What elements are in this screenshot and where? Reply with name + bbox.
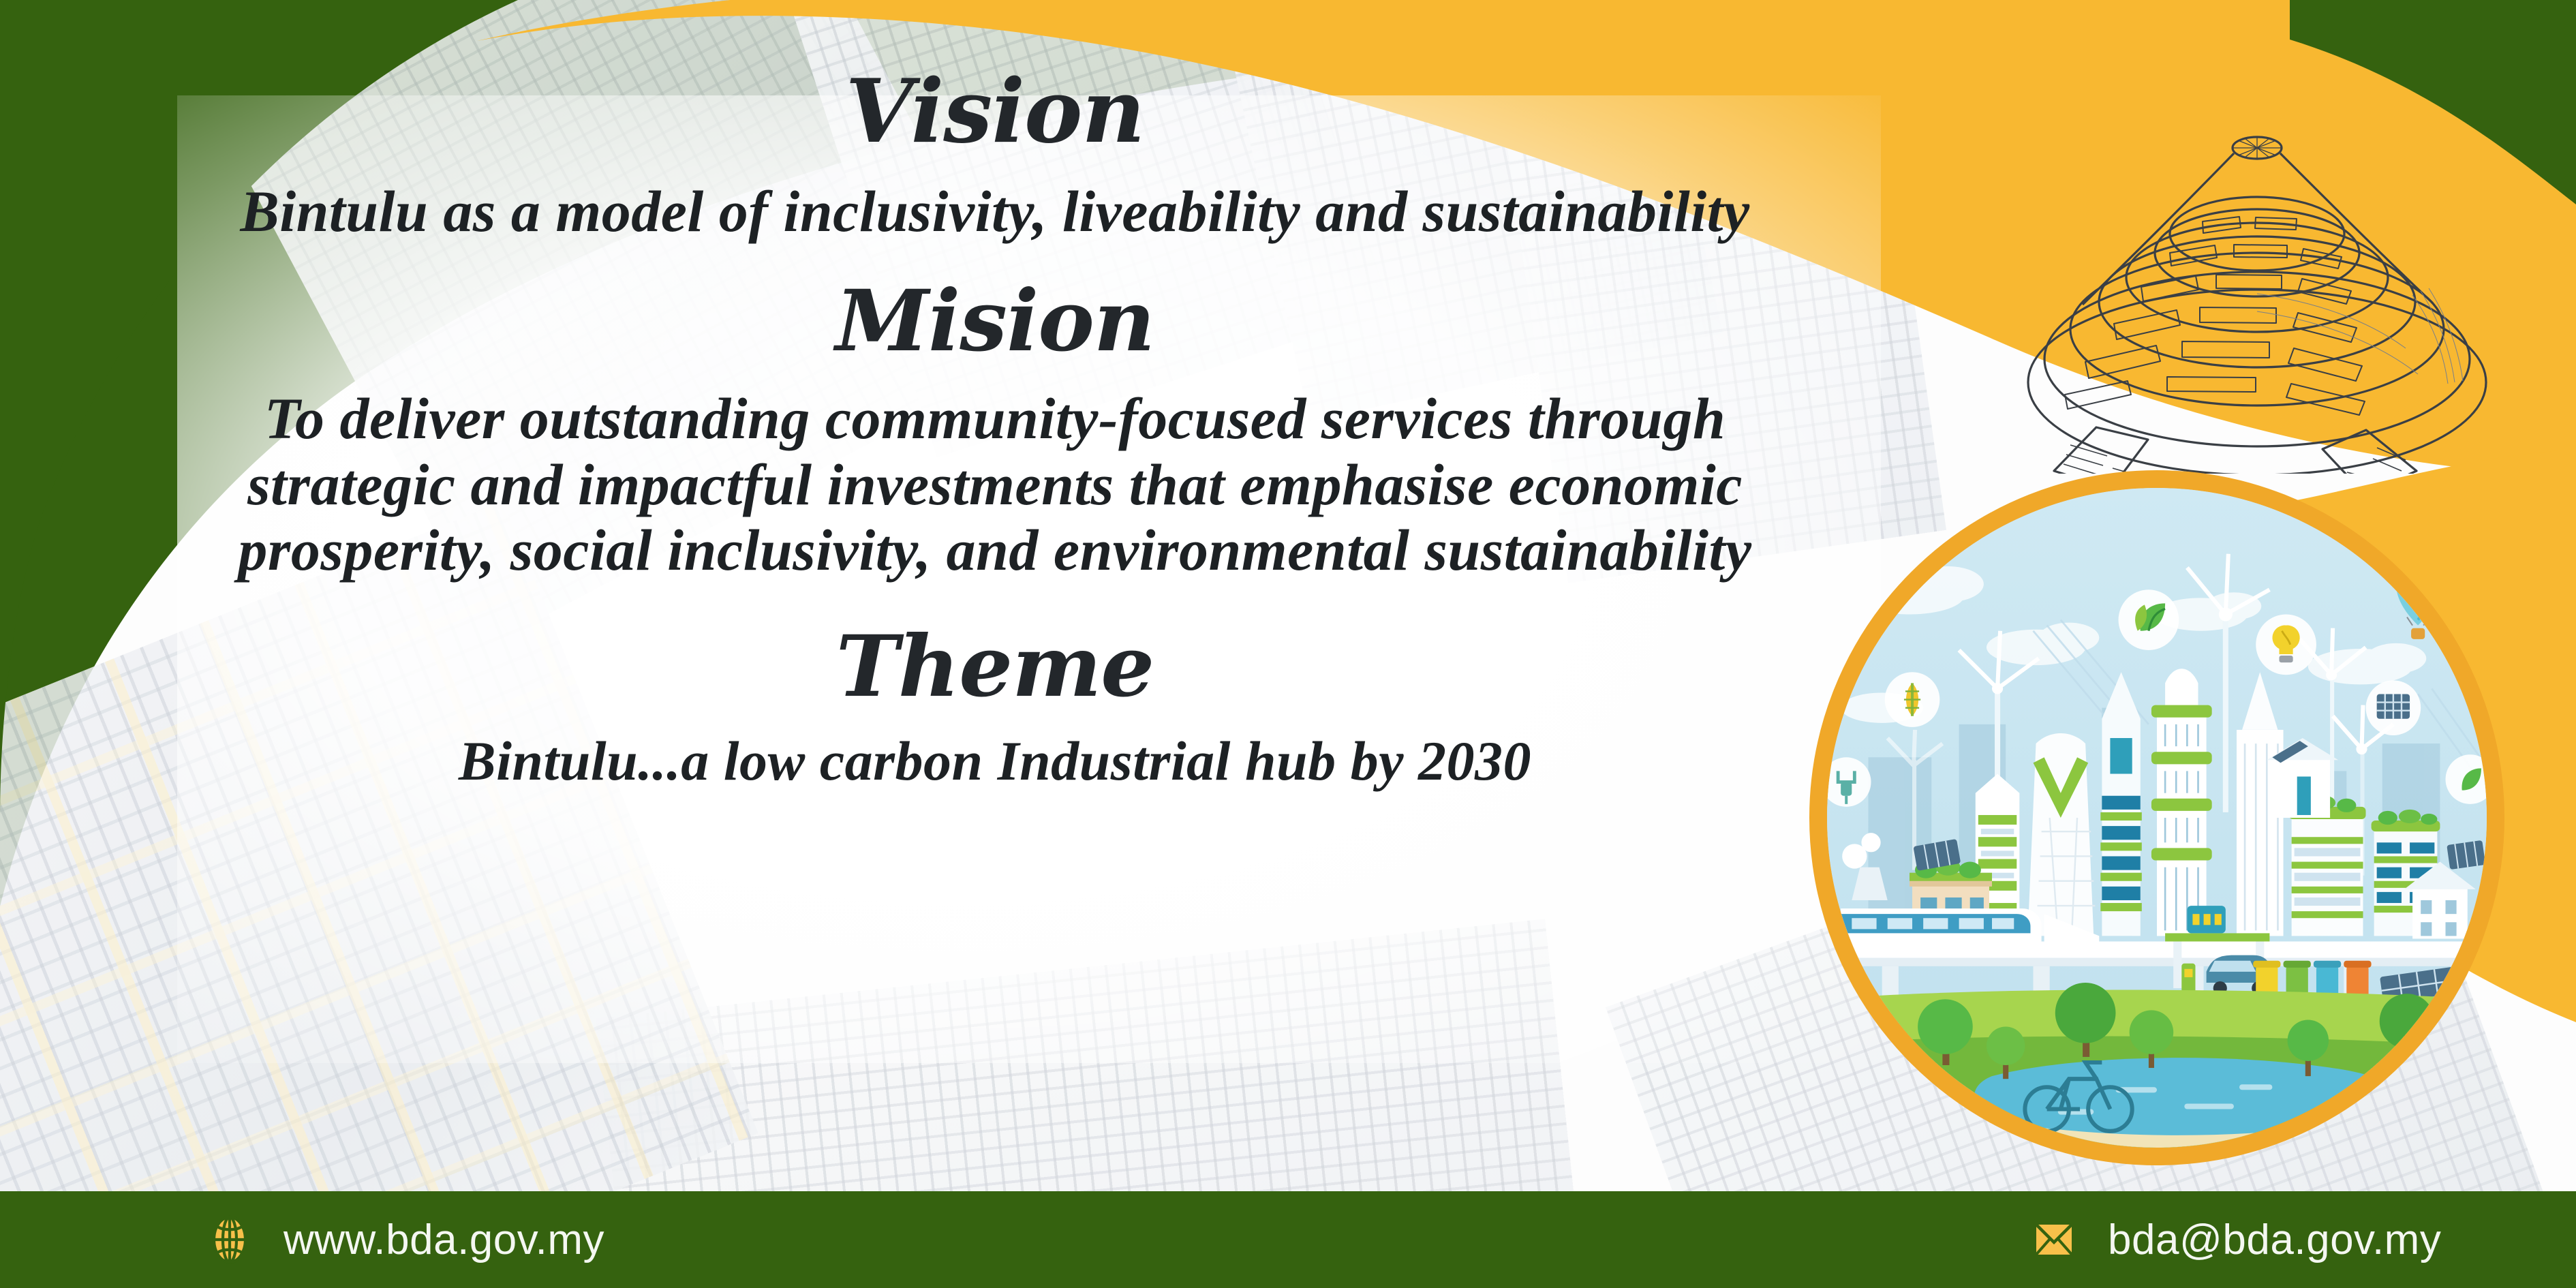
mision-heading: Mision	[102, 279, 1888, 364]
content-column: Vision Bintulu as a model of inclusivity…	[102, 61, 1888, 1029]
mision-line-1: To deliver outstanding community-focused…	[102, 386, 1888, 451]
theme-statement: Bintulu...a low carbon Industrial hub by…	[102, 730, 1888, 793]
mision-line-2: strategic and impactful investments that…	[102, 452, 1888, 517]
footer-bar: www.bda.gov.my bda@bda.gov.my	[0, 1191, 2576, 1288]
vision-statement: Bintulu as a model of inclusivity, livea…	[102, 179, 1888, 244]
email-contact[interactable]: bda@bda.gov.my	[2029, 1214, 2441, 1265]
theme-line-1: Bintulu...a low carbon Industrial hub by…	[102, 730, 1888, 793]
email-label: bda@bda.gov.my	[2108, 1216, 2441, 1264]
banner-root: Vision Bintulu as a model of inclusivity…	[0, 0, 2576, 1288]
eco-city-illustration	[1809, 470, 2504, 1165]
website-contact[interactable]: www.bda.gov.my	[204, 1214, 604, 1265]
conical-building-icon	[1963, 119, 2542, 474]
theme-heading: Theme	[102, 625, 1888, 709]
vision-heading: Vision	[102, 68, 1888, 155]
mision-statement: To deliver outstanding community-focused…	[102, 386, 1888, 583]
mision-line-3: prosperity, social inclusivity, and envi…	[102, 517, 1888, 583]
globe-icon	[204, 1214, 255, 1265]
website-label: www.bda.gov.my	[283, 1216, 604, 1264]
vision-line-1: Bintulu as a model of inclusivity, livea…	[102, 179, 1888, 244]
envelope-icon	[2029, 1214, 2079, 1265]
